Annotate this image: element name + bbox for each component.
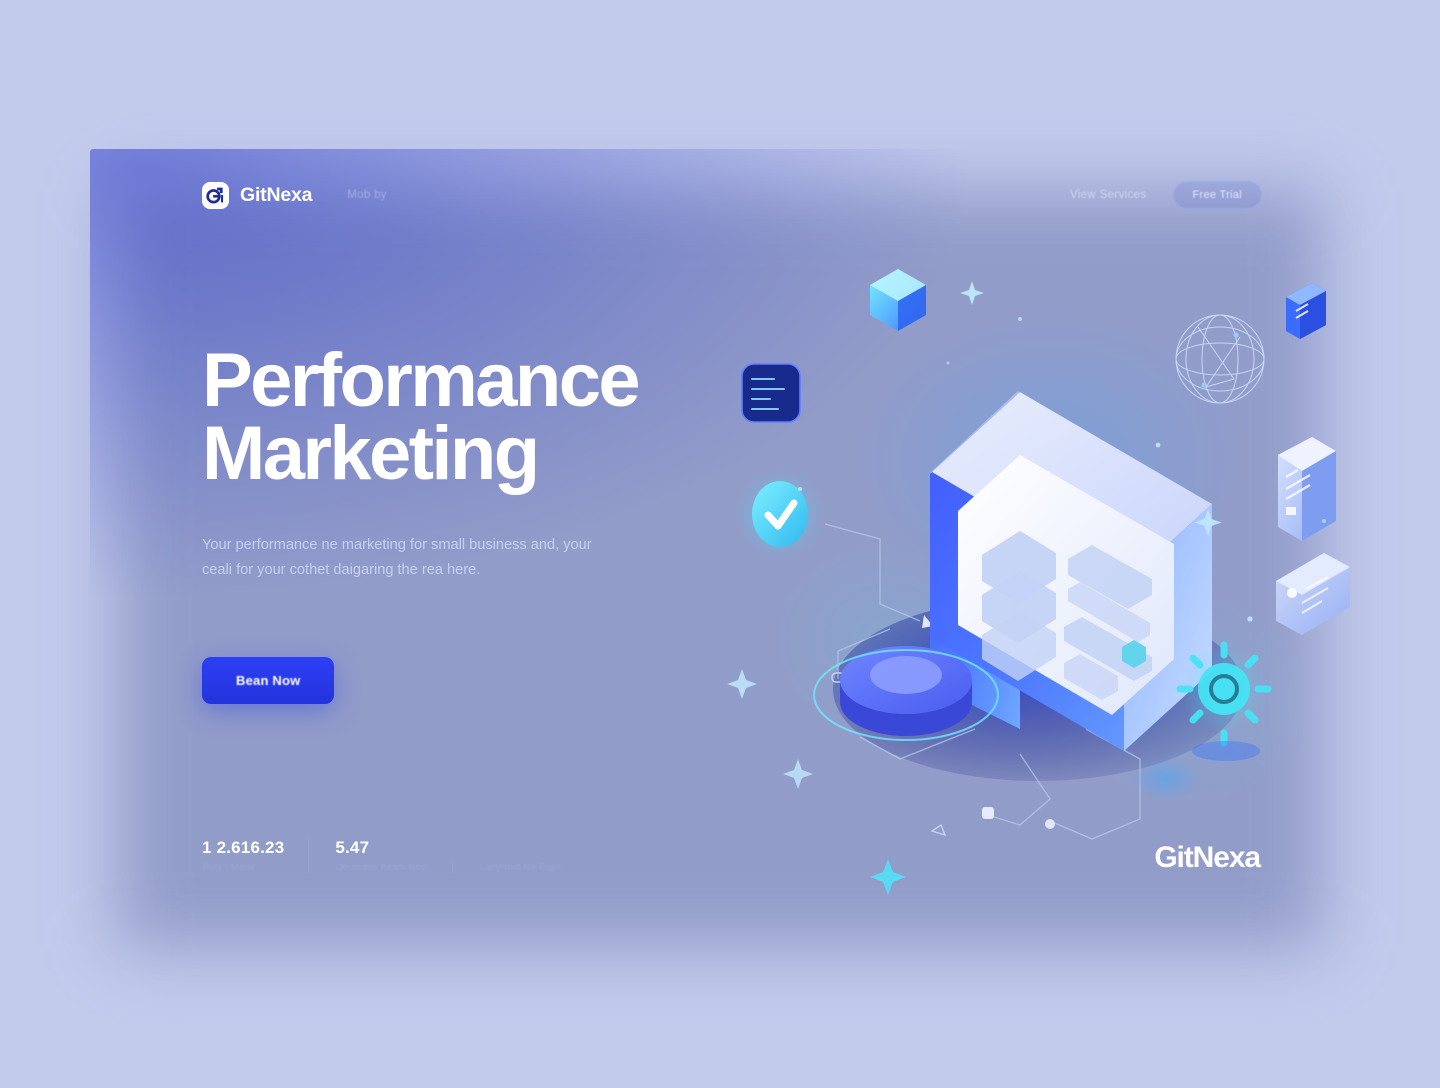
header-nav: View Services Free Trial xyxy=(1070,181,1262,209)
cta-button-label: Bean Now xyxy=(236,673,300,688)
hero-subtitle: Your performance ne marketing for small … xyxy=(202,533,622,584)
hero-slide: GitNexa Mob by View Services Free Trial xyxy=(90,149,1350,939)
mobile-card-icon xyxy=(1278,437,1336,541)
stat-label: Ohurcess heam Now xyxy=(335,862,428,873)
hero-section: Performance Marketing Your performance n… xyxy=(202,345,762,704)
stat-item: 5.47 Ohurcess heam Now xyxy=(308,838,452,873)
brand-name: GitNexa xyxy=(240,184,312,207)
stat-label: Ruty i Mone xyxy=(202,862,284,873)
cta-button[interactable]: Bean Now xyxy=(202,657,334,704)
stat-value: 5.47 xyxy=(335,838,428,858)
footer-logo: GitNexa xyxy=(1154,841,1260,875)
slide-frame-wrapper: GitNexa Mob by View Services Free Trial xyxy=(90,149,1350,939)
isometric-dashboard-illustration xyxy=(720,259,1350,939)
stats-row: 1 2.616.23 Ruty i Mone 5.47 Ohurcess hea… xyxy=(202,838,586,873)
stat-label: Laeyrtnid Ne Eqps xyxy=(479,862,561,873)
brand[interactable]: GitNexa Mob by xyxy=(202,182,387,209)
stat-item: Laeyrtnid Ne Eqps xyxy=(452,862,585,873)
nav-free-trial-button[interactable]: Free Trial xyxy=(1173,181,1262,209)
document-card-icon xyxy=(1286,283,1326,339)
gitnexa-logo-icon xyxy=(202,182,229,209)
stat-value: 1 2.616.23 xyxy=(202,838,284,858)
list-card-icon xyxy=(1276,553,1350,635)
brand-tagline: Mob by xyxy=(347,189,387,201)
site-header: GitNexa Mob by View Services Free Trial xyxy=(90,149,1350,241)
stat-item: 1 2.616.23 Ruty i Mone xyxy=(202,838,308,873)
page-title: Performance Marketing xyxy=(202,345,762,491)
nav-link-view-services[interactable]: View Services xyxy=(1070,189,1147,201)
cube-icon xyxy=(870,269,926,331)
